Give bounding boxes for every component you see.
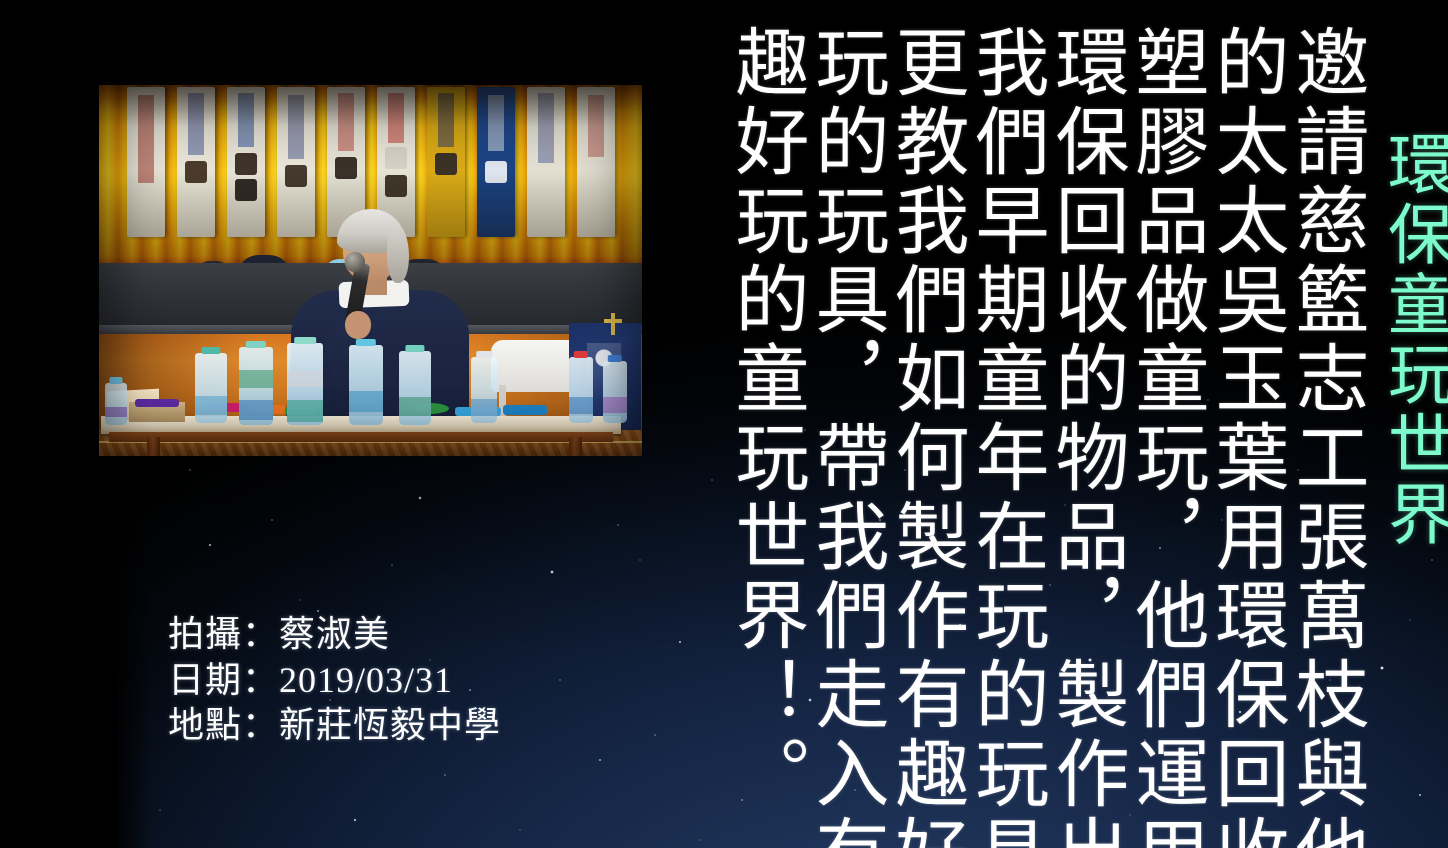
body-column-3: 塑膠品做童玩，他們運用 bbox=[1122, 0, 1202, 848]
vertical-text-block: 環保童玩世界 邀請慈籃志工張萬枝與他 的太太吳玉葉用環保回收 塑膠品做童玩，他們… bbox=[645, 0, 1448, 848]
slide-title: 環保童玩世界 bbox=[1362, 0, 1448, 550]
body-column-2: 的太太吳玉葉用環保回收 bbox=[1202, 0, 1282, 848]
photo-vignette bbox=[99, 85, 642, 456]
body-column-8: 趣好玩的童玩世界！。 bbox=[722, 0, 802, 814]
caption-date-line: 日期：2019/03/31 bbox=[168, 658, 501, 704]
body-column-5: 我們早期童年在玩的玩具 bbox=[962, 0, 1042, 848]
caption-location-line: 地點：新莊恆毅中學 bbox=[168, 703, 501, 749]
body-column-1: 邀請慈籃志工張萬枝與他 bbox=[1282, 0, 1362, 848]
photo-credit-caption: 拍攝：蔡淑美 日期：2019/03/31 地點：新莊恆毅中學 bbox=[168, 612, 501, 749]
body-column-6: 更教我們如何製作有趣好 bbox=[882, 0, 962, 848]
body-column-4: 環保回收的物品，製作出 bbox=[1042, 0, 1122, 848]
caption-photographer-line: 拍攝：蔡淑美 bbox=[168, 612, 501, 658]
body-column-7: 玩的玩具，帶我們走入有 bbox=[802, 0, 882, 848]
speaker-photo bbox=[99, 85, 642, 456]
presentation-slide: 環保童玩世界 邀請慈籃志工張萬枝與他 的太太吳玉葉用環保回收 塑膠品做童玩，他們… bbox=[0, 0, 1448, 848]
